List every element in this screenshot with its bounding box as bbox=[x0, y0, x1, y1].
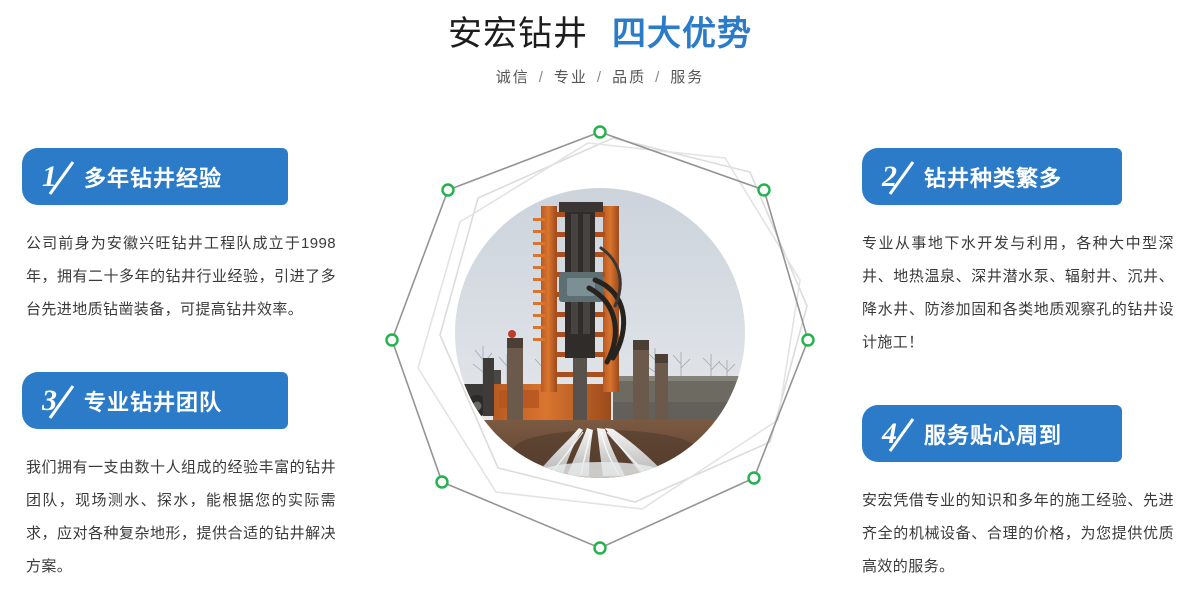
numeral-three-icon: 3 bbox=[40, 380, 80, 422]
feature-badge-4[interactable]: 4 服务贴心周到 bbox=[862, 405, 1122, 462]
feature-body-3: 我们拥有一支由数十人组成的经验丰富的钻井团队，现场测水、探水，能根据您的实际需求… bbox=[26, 451, 336, 583]
feature-card-3: 3 专业钻井团队 我们拥有一支由数十人组成的经验丰富的钻井团队，现场测水、探水，… bbox=[0, 372, 360, 583]
feature-card-2: 2 钻井种类繁多 专业从事地下水开发与利用，各种大中型深井、地热温泉、深井潜水泵… bbox=[840, 148, 1200, 359]
vertex-dot-icon bbox=[387, 335, 398, 346]
features-column-left: 1 多年钻井经验 公司前身为安徽兴旺钻井工程队成立于1998年，拥有二十多年的钻… bbox=[0, 120, 360, 583]
subtitle-keywords: 诚信/专业/品质/服务 bbox=[0, 66, 1200, 87]
drilling-rig-illustration bbox=[455, 188, 745, 478]
center-medallion bbox=[370, 110, 830, 570]
subtitle-separator-0: / bbox=[539, 69, 545, 86]
feature-title-4: 服务贴心周到 bbox=[924, 418, 1062, 450]
numeral-two-icon: 2 bbox=[880, 156, 920, 198]
vertex-dot-icon bbox=[437, 477, 448, 488]
vertex-dot-icon bbox=[595, 127, 606, 138]
feature-title-3: 专业钻井团队 bbox=[84, 385, 222, 417]
vertex-dot-icon bbox=[759, 185, 770, 196]
feature-badge-3[interactable]: 3 专业钻井团队 bbox=[22, 372, 288, 429]
feature-card-4: 4 服务贴心周到 安宏凭借专业的知识和多年的施工经验、先进齐全的机械设备、合理的… bbox=[840, 405, 1200, 583]
subtitle-item-0: 诚信 bbox=[496, 69, 530, 86]
feature-badge-2[interactable]: 2 钻井种类繁多 bbox=[862, 148, 1122, 205]
subtitle-separator-2: / bbox=[655, 69, 661, 86]
feature-title-2: 钻井种类繁多 bbox=[924, 161, 1062, 193]
advantages-page: 安宏钻井四大优势 诚信/专业/品质/服务 1 多年钻井经验 公司前身为安徽兴旺钻… bbox=[0, 0, 1200, 600]
title-highlight: 四大优势 bbox=[612, 15, 752, 53]
feature-card-1: 1 多年钻井经验 公司前身为安徽兴旺钻井工程队成立于1998年，拥有二十多年的钻… bbox=[0, 148, 360, 326]
title-company: 安宏钻井 bbox=[448, 15, 588, 53]
feature-title-1: 多年钻井经验 bbox=[84, 161, 222, 193]
feature-body-4: 安宏凭借专业的知识和多年的施工经验、先进齐全的机械设备、合理的价格，为您提供优质… bbox=[862, 484, 1174, 583]
features-column-right: 2 钻井种类繁多 专业从事地下水开发与利用，各种大中型深井、地热温泉、深井潜水泵… bbox=[840, 120, 1200, 583]
numeral-four-icon: 4 bbox=[880, 413, 920, 455]
feature-badge-1[interactable]: 1 多年钻井经验 bbox=[22, 148, 288, 205]
numeral-one-icon: 1 bbox=[40, 156, 80, 198]
vertex-dot-icon bbox=[595, 543, 606, 554]
vertex-dot-icon bbox=[803, 335, 814, 346]
drilling-rig-photo bbox=[455, 188, 745, 478]
subtitle-separator-1: / bbox=[597, 69, 603, 86]
page-header: 安宏钻井四大优势 诚信/专业/品质/服务 bbox=[0, 0, 1200, 110]
vertex-dot-icon bbox=[443, 185, 454, 196]
subtitle-item-2: 品质 bbox=[612, 69, 646, 86]
subtitle-item-1: 专业 bbox=[554, 69, 588, 86]
feature-body-2: 专业从事地下水开发与利用，各种大中型深井、地热温泉、深井潜水泵、辐射井、沉井、降… bbox=[862, 227, 1174, 359]
feature-body-1: 公司前身为安徽兴旺钻井工程队成立于1998年，拥有二十多年的钻井行业经验，引进了… bbox=[26, 227, 336, 326]
page-title: 安宏钻井四大优势 bbox=[0, 14, 1200, 54]
subtitle-item-3: 服务 bbox=[670, 69, 704, 86]
vertex-dot-icon bbox=[749, 473, 760, 484]
